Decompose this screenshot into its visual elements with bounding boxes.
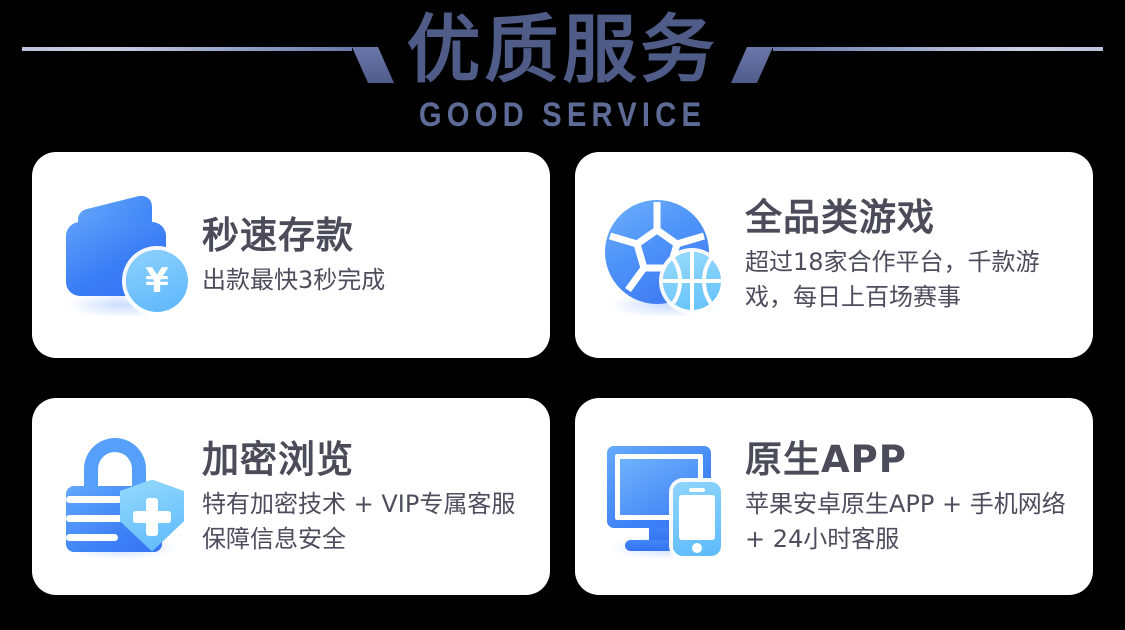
card-text-block: 原生APP 苹果安卓原生APP + 手机网络 + 24小时客服 [745,437,1075,557]
phone-speaker-icon [689,488,705,492]
feature-card-games[interactable]: 全品类游戏 超过18家合作平台，千款游戏，每日上百场赛事 [575,152,1093,358]
card-description: 超过18家合作平台，千款游戏，每日上百场赛事 [745,245,1075,315]
soccer-basketball-icon [601,190,731,320]
feature-card-native-app[interactable]: 原生APP 苹果安卓原生APP + 手机网络 + 24小时客服 [575,398,1093,595]
lock-shield-icon [58,432,188,562]
card-title: 原生APP [745,437,1075,483]
wallet-yen-icon: ¥ [58,190,188,320]
card-title: 加密浏览 [202,437,532,483]
card-description: 特有加密技术 + VIP专属客服保障信息安全 [202,487,532,557]
basketball-icon [663,252,721,310]
card-text-block: 全品类游戏 超过18家合作平台，千款游戏，每日上百场赛事 [745,195,1075,315]
yen-coin-icon: ¥ [126,250,188,312]
phone-screen-icon [679,495,715,540]
card-text-block: 加密浏览 特有加密技术 + VIP专属客服保障信息安全 [202,437,532,557]
page-subtitle: GOOD SERVICE [79,96,1047,134]
card-description: 出款最快3秒完成 [202,263,532,298]
monitor-phone-icon [601,432,731,562]
phone-icon [673,482,721,556]
banner-header: 优质服务 GOOD SERVICE [0,0,1125,150]
feature-card-encryption[interactable]: 加密浏览 特有加密技术 + VIP专属客服保障信息安全 [32,398,550,595]
feature-card-grid: ¥ 秒速存款 出款最快3秒完成 [32,152,1093,595]
card-description: 苹果安卓原生APP + 手机网络 + 24小时客服 [745,487,1075,557]
promo-banner: 优质服务 GOOD SERVICE ¥ 秒速存款 出款最快3秒完成 [0,0,1125,630]
card-title: 秒速存款 [202,213,532,259]
page-title: 优质服务 [0,8,1125,92]
feature-card-deposit[interactable]: ¥ 秒速存款 出款最快3秒完成 [32,152,550,358]
card-text-block: 秒速存款 出款最快3秒完成 [202,213,532,298]
phone-home-button-icon [692,543,702,553]
card-title: 全品类游戏 [745,195,1075,241]
